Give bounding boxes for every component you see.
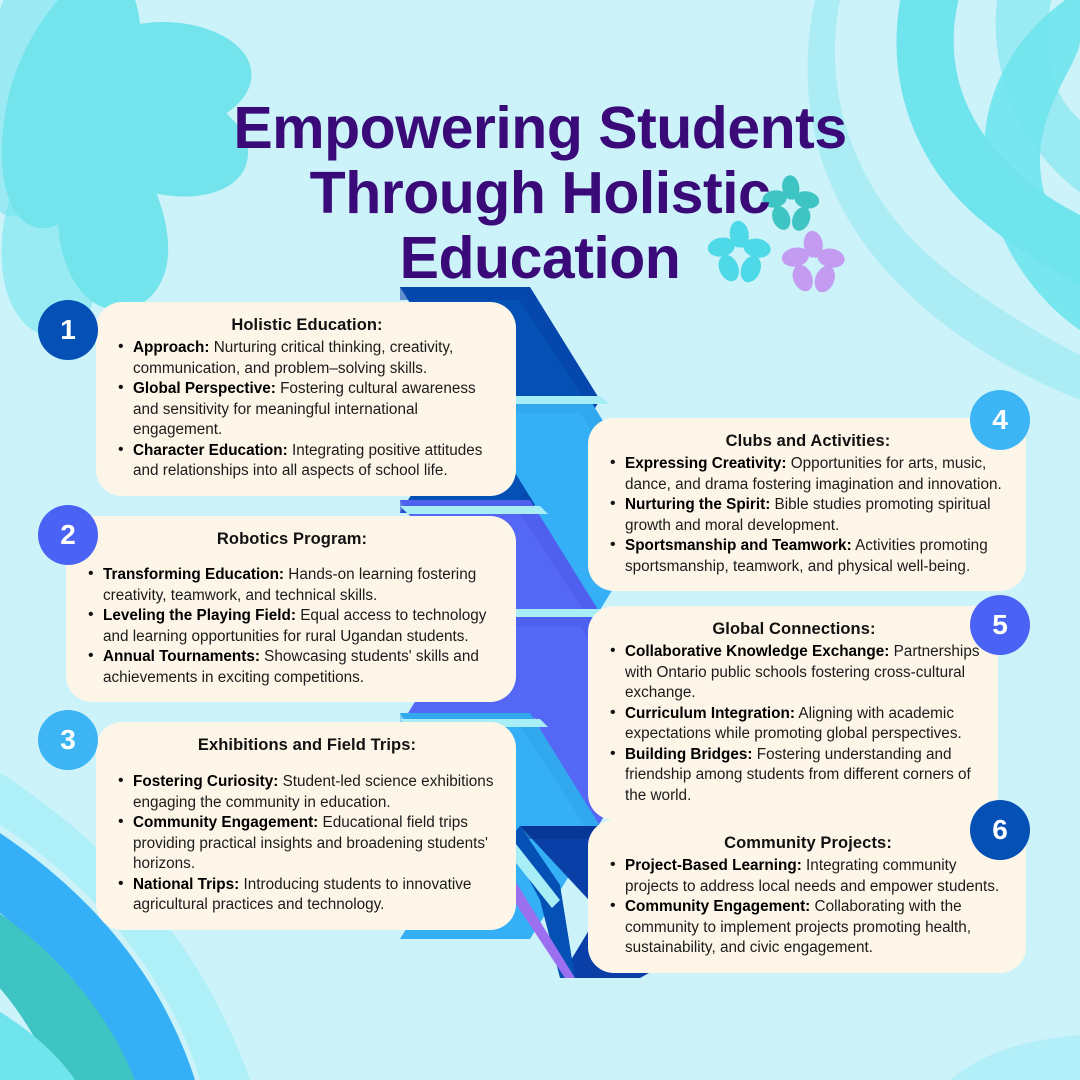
- step-card-4[interactable]: Clubs and Activities: Expressing Creativ…: [588, 418, 1026, 591]
- step-badge-3[interactable]: 3: [38, 710, 98, 770]
- list-item: Community Engagement: Collaborating with…: [608, 897, 1008, 959]
- step-badge-5-number: 5: [992, 611, 1008, 639]
- bullet-lead: Sportsmanship and Teamwork:: [625, 537, 852, 554]
- step-card-6[interactable]: Community Projects: Project-Based Learni…: [588, 820, 1026, 973]
- bullet-lead: Project-Based Learning:: [625, 857, 802, 874]
- step-badge-6-number: 6: [992, 816, 1008, 844]
- list-item: Community Engagement: Educational field …: [116, 813, 498, 875]
- list-item: Project-Based Learning: Integrating comm…: [608, 856, 1008, 897]
- list-item: Fostering Curiosity: Student-led science…: [116, 772, 498, 813]
- title-line-3: Education: [0, 226, 1080, 291]
- step-card-5-bullets: Collaborative Knowledge Exchange: Partne…: [608, 642, 980, 806]
- list-item: Global Perspective: Fostering cultural a…: [116, 379, 498, 441]
- list-item: Approach: Nurturing critical thinking, c…: [116, 338, 498, 379]
- step-card-2[interactable]: Robotics Program: Transforming Education…: [66, 516, 516, 702]
- list-item: Annual Tournaments: Showcasing students'…: [86, 647, 498, 688]
- step-badge-2-number: 2: [60, 521, 76, 549]
- infographic-poster: Empowering Students Through Holistic Edu…: [0, 0, 1080, 1080]
- title-line-1: Empowering Students: [0, 96, 1080, 161]
- step-card-1-title: Holistic Education:: [116, 316, 498, 335]
- bullet-lead: Community Engagement:: [625, 898, 810, 915]
- step-badge-4-number: 4: [992, 406, 1008, 434]
- step-card-3-title: Exhibitions and Field Trips:: [116, 736, 498, 755]
- step-card-5[interactable]: Global Connections: Collaborative Knowle…: [588, 606, 998, 820]
- step-badge-2[interactable]: 2: [38, 505, 98, 565]
- title-line-2: Through Holistic: [0, 161, 1080, 226]
- list-item: Expressing Creativity: Opportunities for…: [608, 454, 1008, 495]
- bullet-lead: Collaborative Knowledge Exchange:: [625, 643, 889, 660]
- list-item: Character Education: Integrating positiv…: [116, 441, 498, 482]
- step-badge-5[interactable]: 5: [970, 595, 1030, 655]
- bullet-lead: Nurturing the Spirit:: [625, 496, 770, 513]
- bullet-lead: Transforming Education:: [103, 566, 284, 583]
- list-item: Sportsmanship and Teamwork: Activities p…: [608, 536, 1008, 577]
- step-badge-6[interactable]: 6: [970, 800, 1030, 860]
- step-card-4-title: Clubs and Activities:: [608, 432, 1008, 451]
- bullet-lead: Fostering Curiosity:: [133, 773, 278, 790]
- poster-title: Empowering Students Through Holistic Edu…: [0, 96, 1080, 291]
- step-card-1-bullets: Approach: Nurturing critical thinking, c…: [116, 338, 498, 482]
- step-card-6-bullets: Project-Based Learning: Integrating comm…: [608, 856, 1008, 959]
- list-item: Collaborative Knowledge Exchange: Partne…: [608, 642, 980, 704]
- list-item: Nurturing the Spirit: Bible studies prom…: [608, 495, 1008, 536]
- bullet-lead: Leveling the Playing Field:: [103, 607, 296, 624]
- step-badge-1-number: 1: [60, 316, 76, 344]
- step-card-1[interactable]: Holistic Education: Approach: Nurturing …: [96, 302, 516, 496]
- bullet-lead: Annual Tournaments:: [103, 648, 260, 665]
- bullet-lead: National Trips:: [133, 876, 239, 893]
- step-badge-1[interactable]: 1: [38, 300, 98, 360]
- list-item: Curriculum Integration: Aligning with ac…: [608, 704, 980, 745]
- bullet-lead: Global Perspective:: [133, 380, 276, 397]
- chevron-divider-2: [400, 506, 548, 514]
- step-badge-4[interactable]: 4: [970, 390, 1030, 450]
- bullet-lead: Expressing Creativity:: [625, 455, 787, 472]
- step-card-4-bullets: Expressing Creativity: Opportunities for…: [608, 454, 1008, 577]
- step-card-6-title: Community Projects:: [608, 834, 1008, 853]
- step-badge-3-number: 3: [60, 726, 76, 754]
- bullet-lead: Curriculum Integration:: [625, 705, 795, 722]
- bullet-lead: Community Engagement:: [133, 814, 318, 831]
- step-card-2-title: Robotics Program:: [86, 530, 498, 549]
- step-card-2-bullets: Transforming Education: Hands-on learnin…: [86, 565, 498, 688]
- list-item: Leveling the Playing Field: Equal access…: [86, 606, 498, 647]
- list-item: Building Bridges: Fostering understandin…: [608, 745, 980, 807]
- list-item: National Trips: Introducing students to …: [116, 875, 498, 916]
- step-card-3-bullets: Fostering Curiosity: Student-led science…: [116, 772, 498, 916]
- step-card-3[interactable]: Exhibitions and Field Trips: Fostering C…: [96, 722, 516, 930]
- bullet-lead: Approach:: [133, 339, 210, 356]
- step-card-5-title: Global Connections:: [608, 620, 980, 639]
- bullet-lead: Character Education:: [133, 442, 288, 459]
- bullet-lead: Building Bridges:: [625, 746, 752, 763]
- list-item: Transforming Education: Hands-on learnin…: [86, 565, 498, 606]
